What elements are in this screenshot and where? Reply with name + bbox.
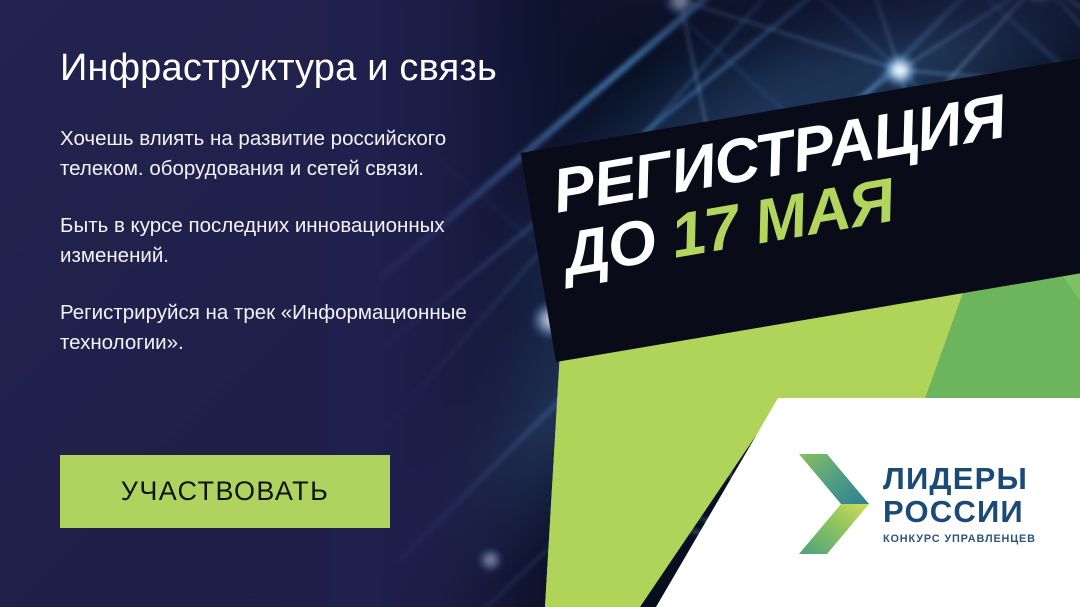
body-paragraph-3: Регистрируйся на трек «Информационные те…	[60, 298, 530, 358]
body-paragraph-2: Быть в курсе последних инновационных изм…	[60, 211, 530, 271]
chevron-right-mark-icon	[795, 452, 869, 556]
participate-button[interactable]: УЧАСТВОВАТЬ	[60, 455, 390, 528]
body-paragraph-1: Хочешь влиять на развитие российского те…	[60, 124, 530, 184]
leaders-of-russia-logo: ЛИДЕРЫ РОССИИ КОНКУРС УПРАВЛЕНЦЕВ	[795, 452, 1041, 556]
promo-banner: РЕГИСТРАЦИЯ ДО 17 МАЯ	[0, 0, 1080, 607]
logo-wordmark: ЛИДЕРЫ РОССИИ КОНКУРС УПРАВЛЕНЦЕВ	[883, 463, 1041, 545]
logo-tagline: КОНКУРС УПРАВЛЕНЦЕВ	[883, 533, 1036, 545]
logo-line-1: ЛИДЕРЫ	[883, 463, 1028, 494]
photo-top-fade	[560, 0, 1080, 70]
logo-line-2: РОССИИ	[883, 496, 1024, 527]
copy-block: Инфраструктура и связь Хочешь влиять на …	[60, 48, 530, 359]
page-title: Инфраструктура и связь	[60, 48, 530, 90]
